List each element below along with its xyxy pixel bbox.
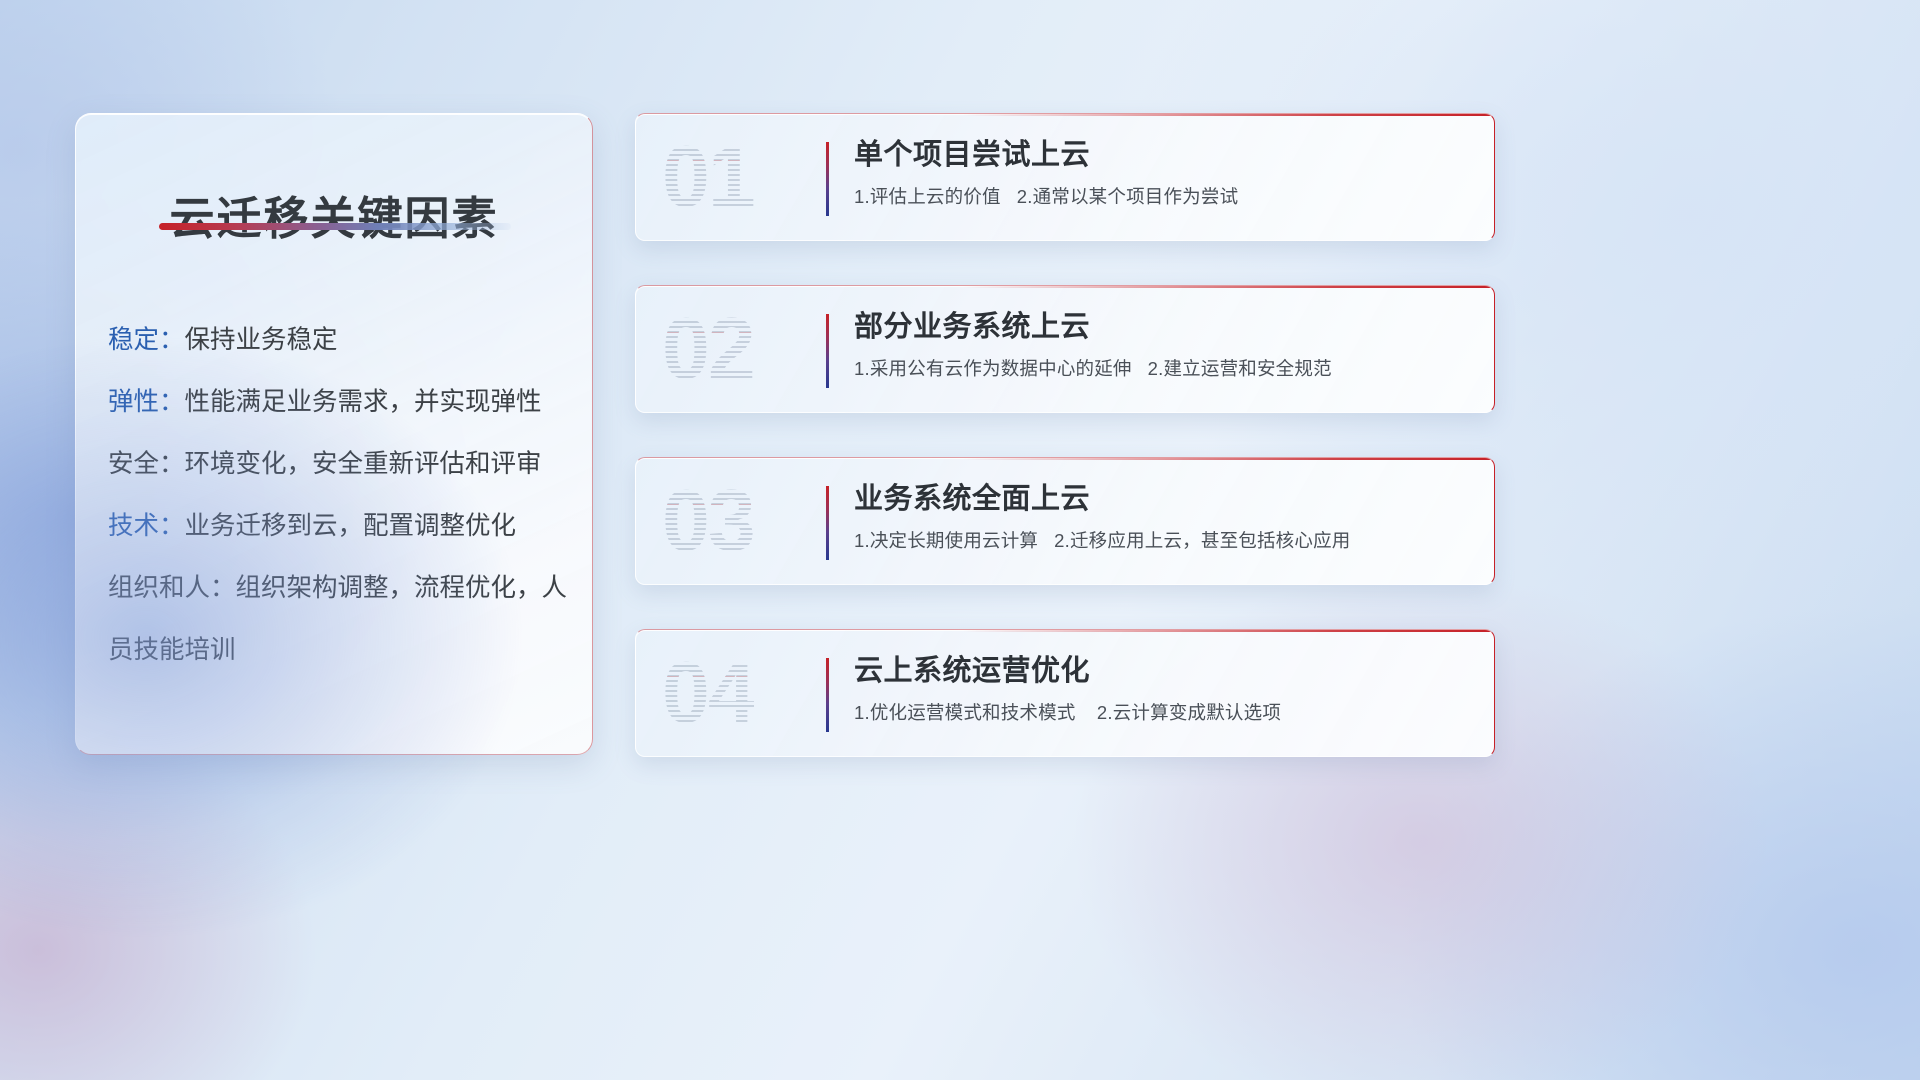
migration-step-card[interactable]: 0404云上系统运营优化1.优化运营模式和技术模式 2.云计算变成默认选项 bbox=[635, 629, 1495, 757]
migration-step-card[interactable]: 0202部分业务系统上云1.采用公有云作为数据中心的延伸 2.建立运营和安全规范 bbox=[635, 285, 1495, 413]
step-text-block: 部分业务系统上云1.采用公有云作为数据中心的延伸 2.建立运营和安全规范 bbox=[854, 308, 1474, 382]
key-factor-label: 弹性： bbox=[108, 388, 185, 416]
migration-step-card[interactable]: 0303业务系统全面上云1.决定长期使用云计算 2.迁移应用上云，甚至包括核心应… bbox=[635, 457, 1495, 585]
key-factors-panel: 云迁移关键因素 稳定：保持业务稳定弹性：性能满足业务需求，并实现弹性安全：环境变… bbox=[75, 113, 593, 755]
key-factor-row: 组织和人：组织架构调整，流程优化，人员技能培训 bbox=[108, 557, 574, 681]
page-title: 云迁移关键因素 bbox=[76, 182, 592, 247]
step-number-red-stripe: 04 bbox=[662, 650, 754, 736]
step-title: 单个项目尝试上云 bbox=[854, 136, 1474, 175]
key-factor-label: 稳定： bbox=[108, 326, 185, 354]
step-divider-accent bbox=[826, 314, 829, 388]
step-text-block: 云上系统运营优化1.优化运营模式和技术模式 2.云计算变成默认选项 bbox=[854, 652, 1474, 726]
key-factor-row: 稳定：保持业务稳定 bbox=[108, 309, 574, 371]
step-number-red-stripe: 01 bbox=[662, 134, 754, 220]
step-number-red-stripe: 03 bbox=[662, 478, 754, 564]
step-divider-accent bbox=[826, 486, 829, 560]
key-factor-value: 保持业务稳定 bbox=[185, 326, 338, 354]
slide-canvas: 云迁移关键因素 稳定：保持业务稳定弹性：性能满足业务需求，并实现弹性安全：环境变… bbox=[0, 0, 1920, 1080]
step-number-red-stripe: 02 bbox=[662, 306, 754, 392]
step-text-block: 业务系统全面上云1.决定长期使用云计算 2.迁移应用上云，甚至包括核心应用 bbox=[854, 480, 1474, 554]
step-title: 云上系统运营优化 bbox=[854, 652, 1474, 691]
step-divider-accent bbox=[826, 142, 829, 216]
key-factor-row: 技术：业务迁移到云，配置调整优化 bbox=[108, 495, 574, 557]
step-number-watermark: 0303 bbox=[662, 478, 754, 564]
step-title: 部分业务系统上云 bbox=[854, 308, 1474, 347]
step-subtitle: 1.采用公有云作为数据中心的延伸 2.建立运营和安全规范 bbox=[854, 356, 1474, 382]
key-factor-value: 性能满足业务需求，并实现弹性 bbox=[185, 388, 542, 416]
migration-step-card[interactable]: 0101单个项目尝试上云1.评估上云的价值 2.通常以某个项目作为尝试 bbox=[635, 113, 1495, 241]
step-number-watermark: 0101 bbox=[662, 134, 754, 220]
key-factor-label: 技术： bbox=[108, 512, 185, 540]
key-factor-label: 安全： bbox=[108, 450, 185, 478]
step-number-watermark: 0404 bbox=[662, 650, 754, 736]
step-text-block: 单个项目尝试上云1.评估上云的价值 2.通常以某个项目作为尝试 bbox=[854, 136, 1474, 210]
key-factor-label: 组织和人： bbox=[108, 574, 236, 602]
step-number-watermark: 0202 bbox=[662, 306, 754, 392]
step-subtitle: 1.决定长期使用云计算 2.迁移应用上云，甚至包括核心应用 bbox=[854, 528, 1474, 554]
key-factor-value: 环境变化，安全重新评估和评审 bbox=[185, 450, 542, 478]
title-underline-accent bbox=[159, 223, 511, 230]
key-factor-row: 安全：环境变化，安全重新评估和评审 bbox=[108, 433, 574, 495]
step-divider-accent bbox=[826, 658, 829, 732]
step-subtitle: 1.优化运营模式和技术模式 2.云计算变成默认选项 bbox=[854, 700, 1474, 726]
key-factor-value: 业务迁移到云，配置调整优化 bbox=[185, 512, 517, 540]
step-subtitle: 1.评估上云的价值 2.通常以某个项目作为尝试 bbox=[854, 184, 1474, 210]
key-factors-list: 稳定：保持业务稳定弹性：性能满足业务需求，并实现弹性安全：环境变化，安全重新评估… bbox=[108, 309, 574, 681]
step-title: 业务系统全面上云 bbox=[854, 480, 1474, 519]
key-factor-row: 弹性：性能满足业务需求，并实现弹性 bbox=[108, 371, 574, 433]
